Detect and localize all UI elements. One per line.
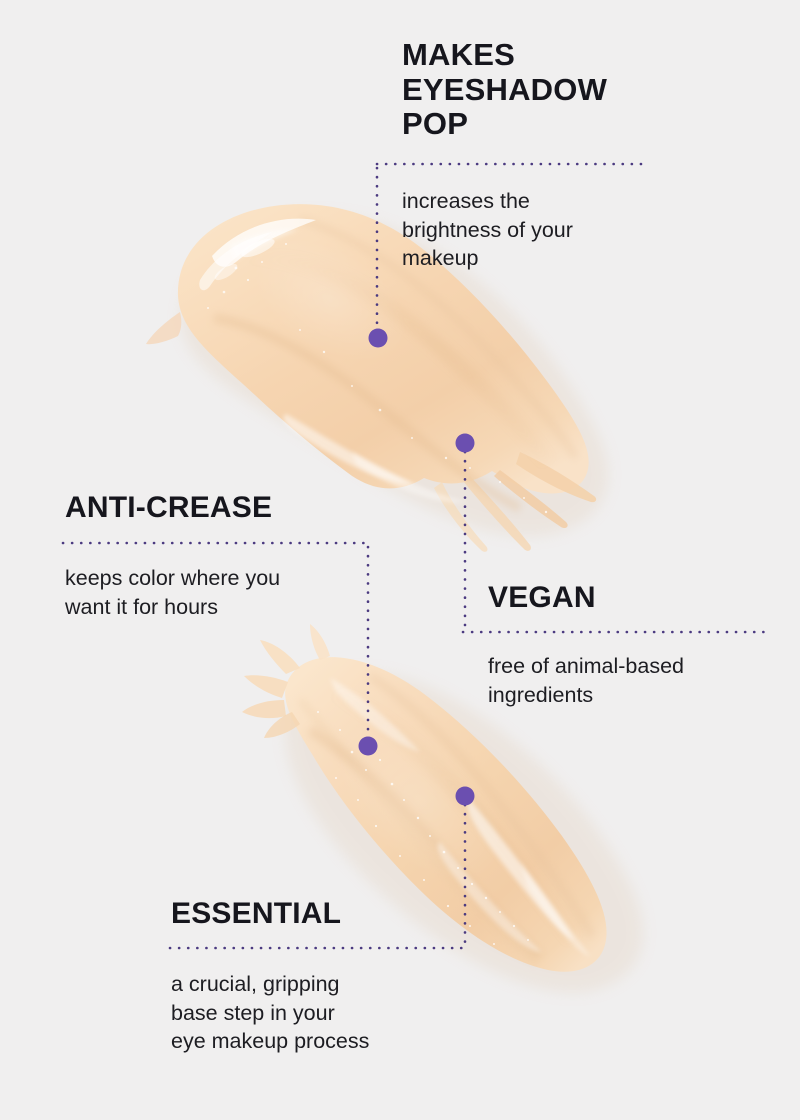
callout-anti-crease: ANTI-CREASE — [65, 491, 395, 525]
callout-body-wrap-vegan: free of animal-based ingredients — [488, 652, 788, 709]
connector-lines — [0, 0, 800, 1120]
marker-hit-makes-eyeshadow-pop[interactable] — [365, 325, 391, 351]
callout-body-makes-eyeshadow-pop: increases the brightness of your makeup — [402, 187, 702, 273]
callout-makes-eyeshadow-pop: MAKES EYESHADOW POP — [402, 38, 702, 142]
callout-body-wrap-essential: a crucial, gripping base step in your ey… — [171, 970, 481, 1056]
callout-vegan: VEGAN — [488, 581, 778, 615]
callout-essential: ESSENTIAL — [171, 897, 471, 931]
product-swatch-artwork — [0, 0, 800, 1120]
callout-body-vegan: free of animal-based ingredients — [488, 652, 788, 709]
callout-body-wrap-anti-crease: keeps color where you want it for hours — [65, 564, 405, 621]
infographic-canvas: MAKES EYESHADOW POP increases the bright… — [0, 0, 800, 1120]
callout-title-essential: ESSENTIAL — [171, 897, 471, 931]
callout-body-essential: a crucial, gripping base step in your ey… — [171, 970, 481, 1056]
callout-title-vegan: VEGAN — [488, 581, 778, 615]
callout-title-anti-crease: ANTI-CREASE — [65, 491, 395, 525]
marker-hit-anti-crease[interactable] — [355, 733, 381, 759]
marker-hit-vegan[interactable] — [452, 430, 478, 456]
callout-body-anti-crease: keeps color where you want it for hours — [65, 564, 405, 621]
callout-title-makes-eyeshadow-pop: MAKES EYESHADOW POP — [402, 38, 702, 142]
marker-hit-essential[interactable] — [452, 783, 478, 809]
callout-body-wrap-makes-eyeshadow-pop: increases the brightness of your makeup — [402, 187, 702, 273]
